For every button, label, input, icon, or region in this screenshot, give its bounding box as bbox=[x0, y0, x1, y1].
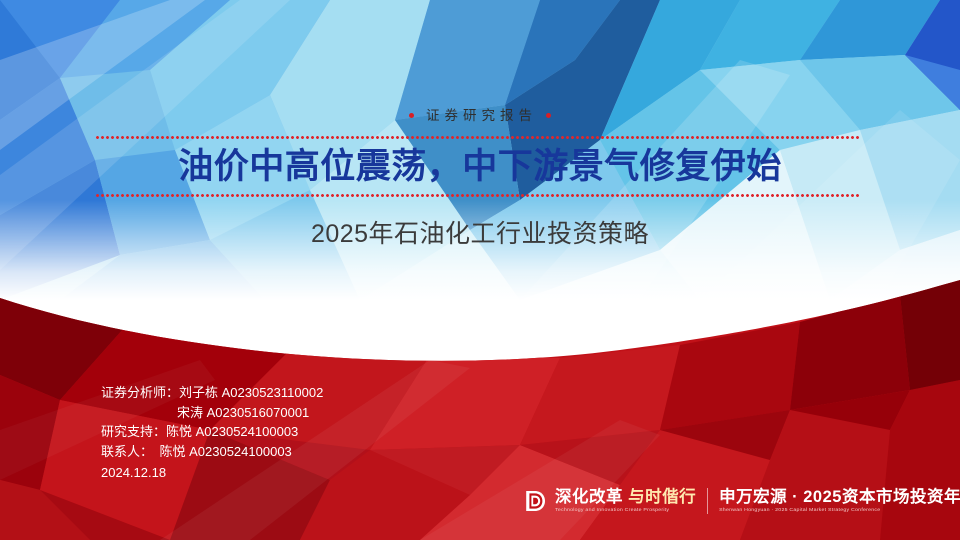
page-title: 油价中高位震荡，中下游景气修复伊始 bbox=[0, 145, 960, 189]
slogan-part-b: 与时偕行 bbox=[628, 488, 696, 506]
slogan-chinese: 深化改革 与时偕行 bbox=[555, 489, 696, 506]
analyst-line-primary: 证券分析师：刘子栋 A0230523110002 bbox=[101, 383, 323, 403]
logo-divider bbox=[707, 488, 708, 514]
conference-name-chinese: 申万宏源 · 2025资本市场投资年会 bbox=[719, 489, 960, 506]
presentation-cover-slide: 证券研究报告 油价中高位震荡，中下游景气修复伊始 2025年石油化工行业投资策略 bbox=[0, 0, 960, 540]
dotted-rule-top bbox=[95, 136, 859, 139]
analyst-info-block: 证券分析师：刘子栋 A0230523110002 宋涛 A02305160700… bbox=[101, 383, 323, 483]
bullet-dot-left-icon bbox=[409, 113, 414, 118]
slogan-part-a: 深化改革 bbox=[555, 488, 623, 506]
research-support-line: 研究支持：陈悦 A0230524100003 bbox=[101, 422, 323, 442]
report-type-label: 证券研究报告 bbox=[423, 109, 537, 123]
conference-logo-lockup: 深化改革 与时偕行 Technology and Innovation Crea… bbox=[524, 483, 960, 519]
page-subtitle: 2025年石油化工行业投资策略 bbox=[0, 217, 960, 251]
slogan-english: Technology and Innovation Create Prosper… bbox=[555, 507, 696, 513]
conference-name-english: Shenwan Hongyuan · 2025 Capital Market S… bbox=[719, 507, 960, 513]
dotted-rule-bottom bbox=[95, 194, 859, 197]
report-type-eyebrow-row: 证券研究报告 bbox=[0, 106, 960, 122]
conference-name-block: 申万宏源 · 2025资本市场投资年会 Shenwan Hongyuan · 2… bbox=[719, 489, 960, 514]
contact-person-line: 联系人： 陈悦 A0230524100003 bbox=[101, 442, 323, 462]
shenwan-hongyuan-emblem-icon bbox=[524, 489, 548, 513]
slogan-block: 深化改革 与时偕行 Technology and Innovation Crea… bbox=[555, 489, 696, 514]
analyst-line-secondary: 宋涛 A0230516070001 bbox=[101, 403, 323, 423]
bullet-dot-right-icon bbox=[546, 113, 551, 118]
report-type-eyebrow: 证券研究报告 bbox=[409, 109, 551, 123]
publication-date: 2024.12.18 bbox=[101, 461, 323, 483]
